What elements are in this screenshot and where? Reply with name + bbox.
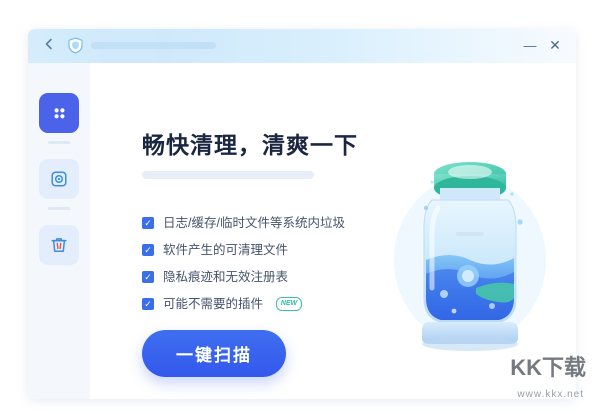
feature-checkbox[interactable]: ✓	[142, 244, 154, 256]
subtitle-placeholder-bar	[142, 171, 314, 179]
sidebar-divider-1	[48, 141, 70, 144]
feature-label: 软件产生的可清理文件	[163, 242, 288, 258]
back-icon[interactable]	[40, 37, 58, 55]
feature-checkbox[interactable]: ✓	[142, 217, 154, 229]
title-bar: — ✕	[28, 29, 576, 63]
sidebar	[28, 63, 91, 399]
page-title: 畅快清理，清爽一下	[142, 126, 358, 160]
sidebar-divider-2	[48, 207, 70, 210]
water-dispenser-illustration	[380, 148, 560, 353]
app-window: — ✕	[28, 29, 576, 399]
watermark-logo: KK下载	[510, 350, 586, 382]
feature-label: 日志/缓存/临时文件等系统内垃圾	[163, 215, 345, 231]
watermark-url: www.kkx.net	[517, 389, 584, 400]
sidebar-item-scan[interactable]	[39, 159, 79, 199]
new-badge: NEW	[276, 297, 302, 311]
feature-checkbox[interactable]: ✓	[142, 298, 154, 310]
shield-icon	[66, 36, 85, 55]
grid-dashboard-icon	[39, 93, 79, 133]
sidebar-item-dashboard[interactable]	[39, 93, 79, 133]
titlebar-placeholder-bar	[91, 42, 216, 49]
chevron-left-icon	[44, 38, 54, 50]
trash-bin-icon	[39, 225, 79, 265]
close-button[interactable]: ✕	[547, 38, 563, 54]
minimize-button[interactable]: —	[522, 38, 538, 54]
feature-label: 隐私痕迹和无效注册表	[163, 269, 288, 285]
feature-label: 可能不需要的插件	[163, 296, 263, 312]
scan-button[interactable]: 一键扫描	[142, 330, 286, 377]
disk-scan-icon	[39, 159, 79, 199]
main-content: 畅快清理，清爽一下 ✓ 日志/缓存/临时文件等系统内垃圾 ✓ 软件产生的可清理文…	[90, 63, 576, 399]
screenshot-root: — ✕	[0, 0, 600, 414]
sidebar-item-trash[interactable]	[39, 225, 79, 265]
feature-checkbox[interactable]: ✓	[142, 271, 154, 283]
